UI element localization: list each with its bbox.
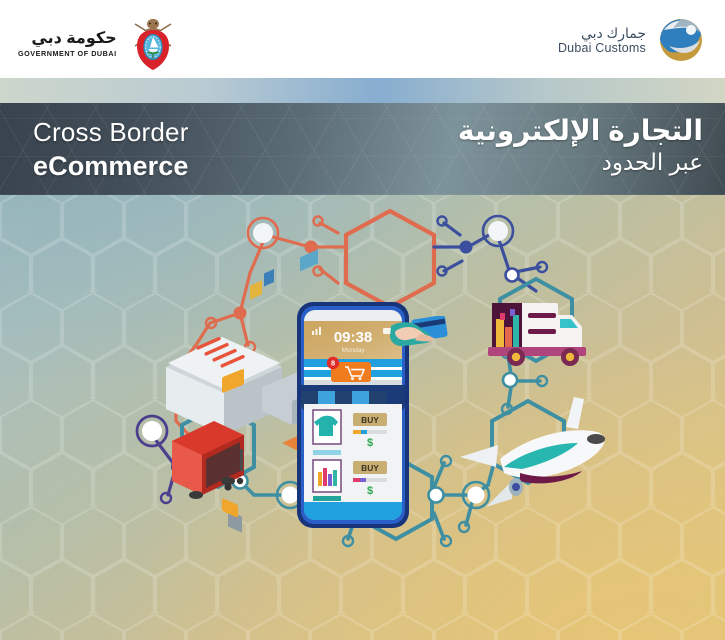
illustration-scene: 09:38 Monday 8 xyxy=(0,195,725,640)
poster-root: حكومة دبي GOVERNMENT OF DUBAI xyxy=(0,0,725,640)
government-of-dubai-logo: حكومة دبي GOVERNMENT OF DUBAI xyxy=(18,16,181,72)
dubai-emblem-icon xyxy=(125,16,181,72)
header-accent-strip xyxy=(0,78,725,104)
network-blue-nodes xyxy=(438,216,548,282)
title-arabic-line2: عبر الحدود xyxy=(458,148,703,177)
dubai-customs-arabic: جمارك دبي xyxy=(581,25,646,41)
gov-logo-arabic: حكومة دبي xyxy=(31,31,116,47)
title-english: Cross Border eCommerce xyxy=(33,117,189,182)
phone-status-day: Monday xyxy=(341,347,365,354)
title-arabic: التجارة الإلكترونية عبر الحدود xyxy=(458,113,703,177)
price-label-1: $ xyxy=(367,437,373,449)
title-arabic-line1: التجارة الإلكترونية xyxy=(458,113,703,148)
dubai-customs-english: Dubai Customs xyxy=(558,41,646,55)
dubai-customs-logo: جمارك دبي Dubai Customs xyxy=(558,14,707,66)
title-banner: Cross Border eCommerce التجارة الإلكترون… xyxy=(0,103,725,195)
phone-status-time: 09:38 xyxy=(334,329,372,346)
page-header: حكومة دبي GOVERNMENT OF DUBAI xyxy=(0,0,725,78)
title-english-line2: eCommerce xyxy=(33,150,189,182)
price-label-2: $ xyxy=(367,485,373,497)
gov-logo-text: حكومة دبي GOVERNMENT OF DUBAI xyxy=(18,31,117,57)
smartphone-mockup: 09:38 Monday 8 xyxy=(293,300,417,530)
cart-badge-count: 8 xyxy=(331,359,335,368)
dubai-customs-text: جمارك دبي Dubai Customs xyxy=(558,25,646,55)
buy-label-1: BUY xyxy=(361,415,379,425)
dubai-customs-globe-icon xyxy=(655,14,707,66)
title-english-line1: Cross Border xyxy=(33,117,189,148)
hand-holding-credit-card-icon xyxy=(389,316,459,360)
buy-label-2: BUY xyxy=(361,463,379,473)
network-blue xyxy=(434,223,540,291)
gov-logo-english: GOVERNMENT OF DUBAI xyxy=(18,50,117,57)
